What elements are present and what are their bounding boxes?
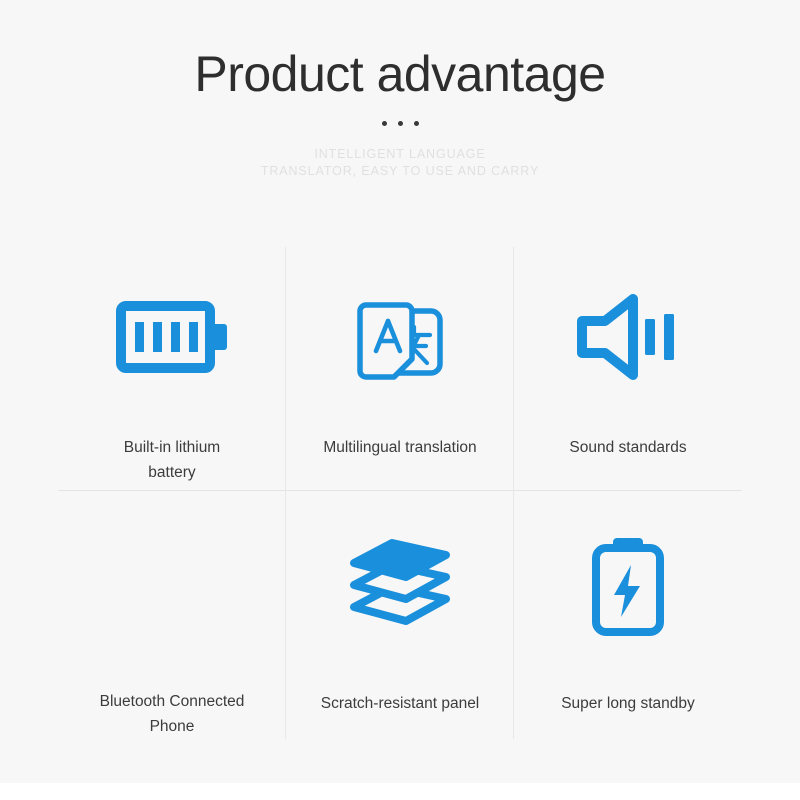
layers-icon	[346, 525, 454, 645]
page-subtitle: INTELLIGENT LANGUAGE TRANSLATOR, EASY TO…	[0, 146, 800, 180]
feature-grid: Built-in lithium battery	[58, 247, 742, 739]
feature-cell-bluetooth-connected-phone: Bluetooth Connected Phone	[58, 491, 286, 739]
battery-charging-icon	[590, 525, 666, 645]
feature-cell-multilingual-translation: Multilingual translation	[286, 247, 514, 491]
feature-label-line-1: Built-in lithium	[124, 435, 220, 460]
page-subtitle-line-1: INTELLIGENT LANGUAGE	[0, 146, 800, 163]
page-title: Product advantage	[0, 43, 800, 105]
feature-label-bluetooth-connected-phone: Bluetooth Connected Phone	[100, 689, 245, 739]
feature-label-built-in-lithium-battery: Built-in lithium battery	[124, 435, 220, 485]
separator-dot-1	[382, 121, 387, 126]
feature-label-multilingual-translation: Multilingual translation	[323, 435, 476, 460]
product-advantage-page: Product advantage INTELLIGENT LANGUAGE T…	[0, 0, 800, 800]
feature-cell-sound-standards: Sound standards	[514, 247, 742, 491]
page-header: Product advantage INTELLIGENT LANGUAGE T…	[0, 0, 800, 180]
feature-label-line-1: Super long standby	[561, 691, 695, 716]
feature-cell-scratch-resistant-panel: Scratch-resistant panel	[286, 491, 514, 739]
battery-horizontal-icon	[116, 281, 229, 393]
feature-label-line-1: Bluetooth Connected	[100, 689, 245, 714]
feature-cell-built-in-lithium-battery: Built-in lithium battery	[58, 247, 286, 491]
separator-dot-3	[414, 121, 419, 126]
feature-label-line-1: Scratch-resistant panel	[321, 691, 480, 716]
dot-separator	[0, 118, 800, 128]
translate-icon	[352, 281, 448, 393]
page-subtitle-line-2: TRANSLATOR, EASY TO USE AND CARRY	[0, 163, 800, 180]
feature-label-scratch-resistant-panel: Scratch-resistant panel	[321, 691, 480, 716]
speaker-icon	[577, 281, 679, 393]
feature-label-line-1: Multilingual translation	[323, 435, 476, 460]
feature-label-line-2: battery	[124, 460, 220, 485]
feature-cell-super-long-standby: Super long standby	[514, 491, 742, 739]
feature-label-line-1: Sound standards	[569, 435, 686, 460]
feature-label-line-2: Phone	[100, 714, 245, 739]
separator-dot-2	[398, 121, 403, 126]
feature-label-sound-standards: Sound standards	[569, 435, 686, 460]
feature-label-super-long-standby: Super long standby	[561, 691, 695, 716]
